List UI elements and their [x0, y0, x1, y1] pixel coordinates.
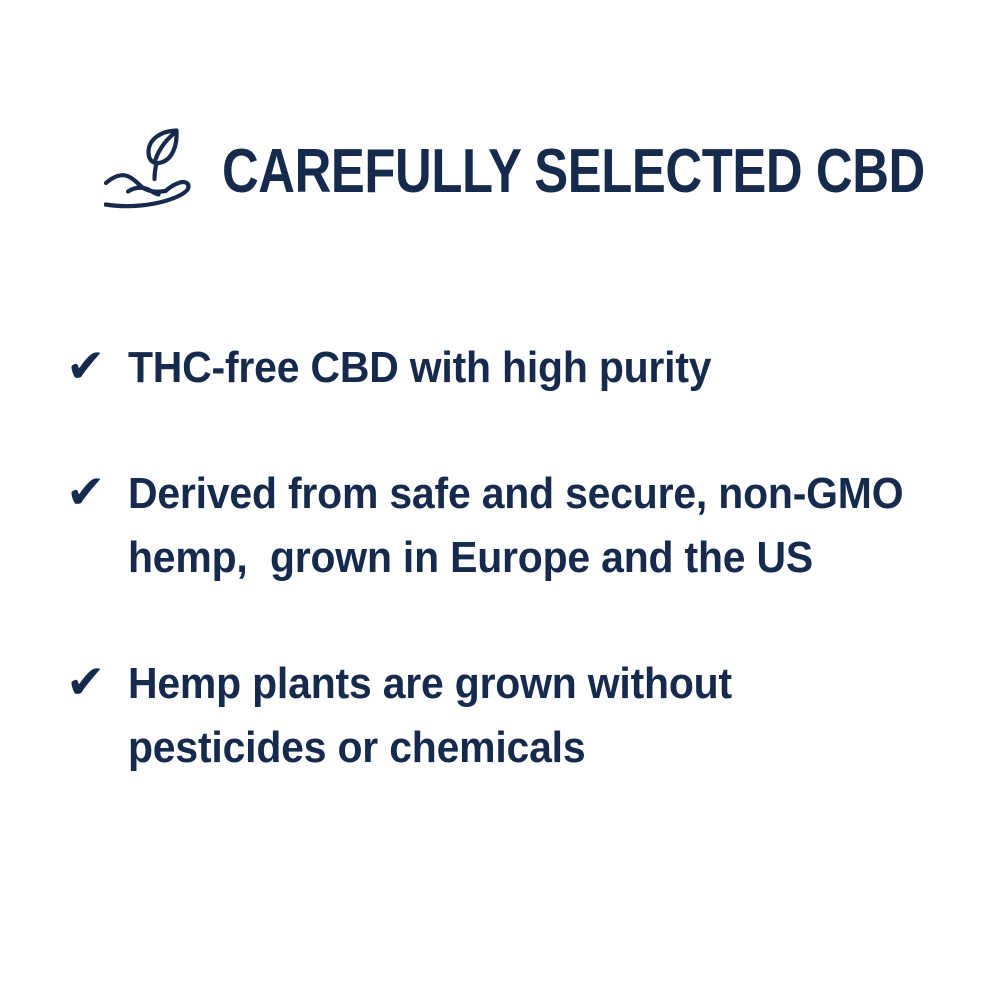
list-item: ✔ THC-free CBD with high purity [66, 336, 966, 400]
benefit-text: Derived from safe and secure, non-GMO he… [128, 462, 907, 590]
list-item: ✔ Hemp plants are grown without pesticid… [66, 652, 966, 780]
page-title: CAREFULLY SELECTED CBD [222, 140, 925, 204]
checkmark-icon: ✔ [66, 462, 128, 524]
carefully-selected-cbd-panel: CAREFULLY SELECTED CBD ✔ THC-free CBD wi… [0, 0, 1000, 1000]
panel-header: CAREFULLY SELECTED CBD [104, 128, 1000, 216]
checkmark-icon: ✔ [66, 652, 128, 714]
benefit-text: Hemp plants are grown without pesticides… [128, 652, 907, 780]
benefit-text: THC-free CBD with high purity [128, 336, 907, 400]
checkmark-icon: ✔ [66, 336, 128, 398]
hand-holding-leaf-icon [104, 128, 200, 216]
list-item: ✔ Derived from safe and secure, non-GMO … [66, 462, 966, 590]
benefits-list: ✔ THC-free CBD with high purity ✔ Derive… [66, 336, 966, 780]
